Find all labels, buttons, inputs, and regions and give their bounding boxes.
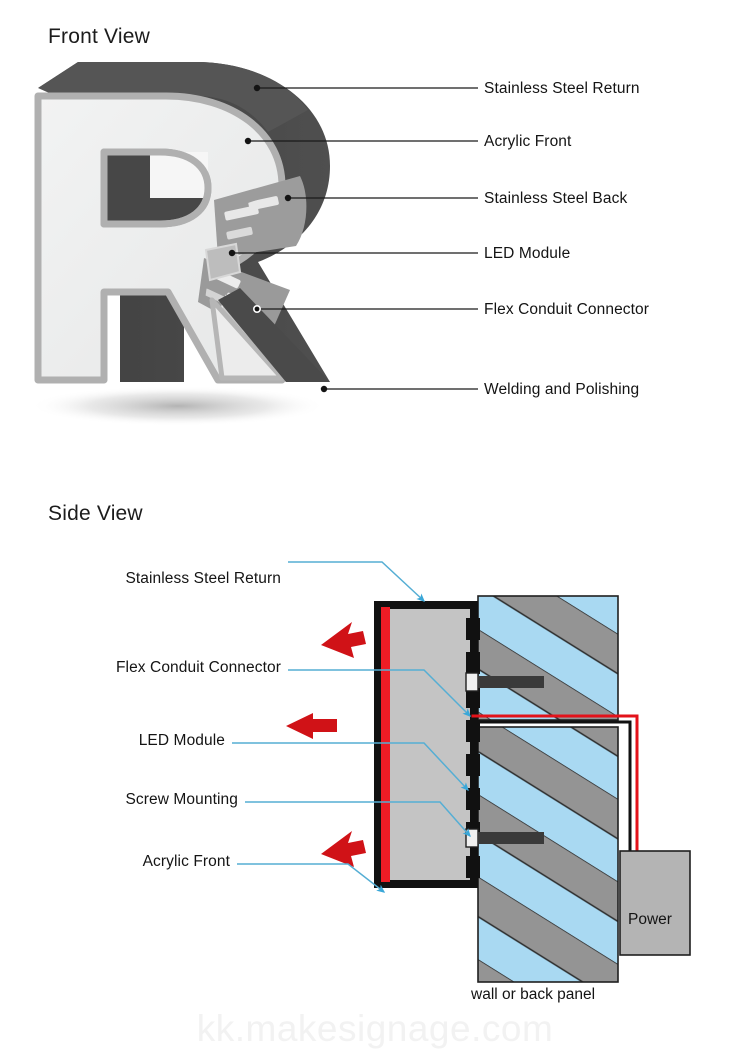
side-view-graphic [0,0,750,1064]
red-arrow-icon [321,622,366,658]
side-callout-screw-mounting: Screw Mounting [0,791,238,809]
acrylic-front-strip [381,607,390,882]
power-supply-label: Power [628,911,672,929]
leader-line [288,562,424,601]
red-arrow-icon [321,831,366,867]
power-supply-box [620,851,690,955]
wall-or-back-panel [478,596,618,982]
wall-panel-upper [478,596,618,720]
diagram-canvas: Front View [0,0,750,1064]
side-callout-stainless-steel-return: Stainless Steel Return [0,570,281,588]
wall-panel-caption: wall or back panel [471,986,595,1004]
side-callout-flex-conduit-connector: Flex Conduit Connector [0,659,281,677]
light-direction-arrows [286,622,366,867]
wall-panel-lower [478,727,618,982]
leader-line [237,864,384,892]
site-watermark: kk.makesignage.com [0,1008,750,1050]
side-callout-acrylic-front: Acrylic Front [0,853,230,871]
side-callout-led-module: LED Module [0,732,225,750]
red-arrow-icon [286,713,337,739]
sign-cross-section [374,601,480,888]
cabinet-interior [388,609,470,880]
